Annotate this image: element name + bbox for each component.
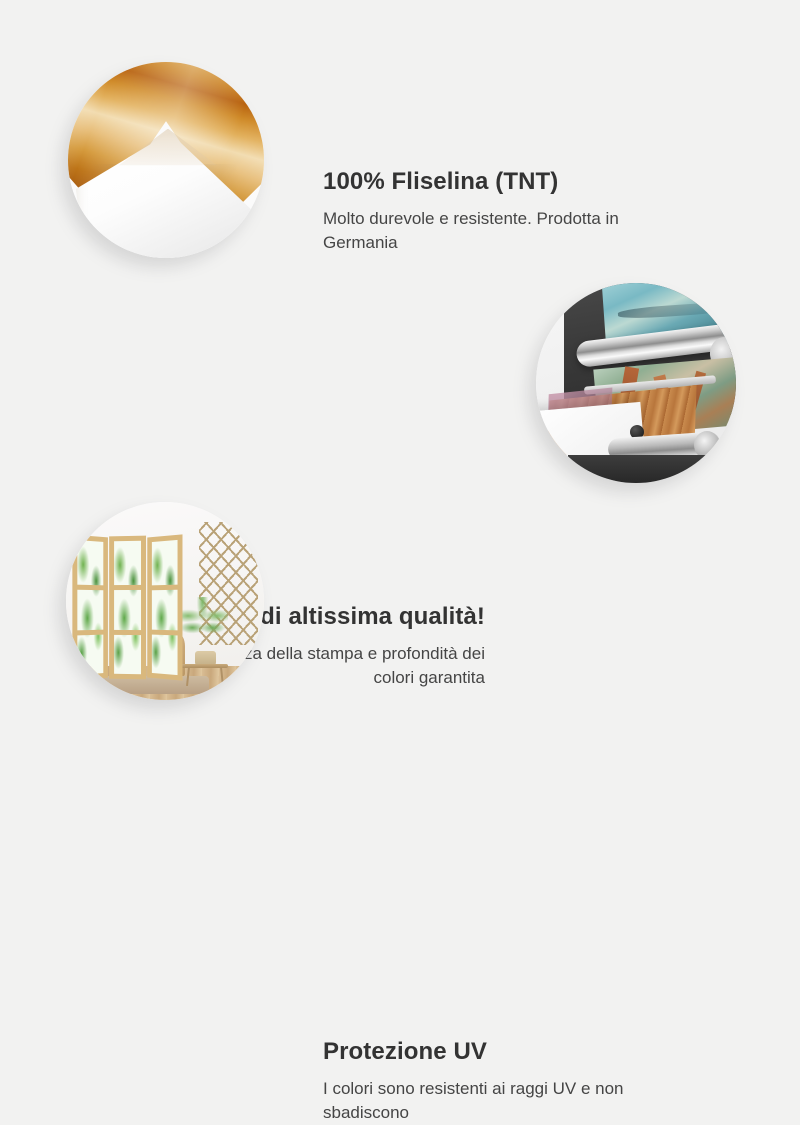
screen-panel-1 — [72, 534, 108, 679]
printer-base — [568, 455, 724, 483]
wallpaper-scene — [68, 62, 264, 258]
feature-block-protezione-uv: Protezione UV I colori sono resistenti a… — [0, 480, 800, 720]
feature-block-stampa-qualita: Stampa di altissima qualità! Ottima niti… — [0, 265, 800, 505]
feature-description: I colori sono resistenti ai raggi UV e n… — [323, 1077, 683, 1125]
room-divider-scene — [66, 502, 264, 700]
feature-title: 100% Fliselina (TNT) — [323, 168, 683, 197]
feature-title: Protezione UV — [323, 1038, 683, 1067]
tropical-room-divider-image — [66, 502, 264, 700]
printer-scene — [536, 283, 736, 483]
large-format-printer-image — [536, 283, 736, 483]
feature-text-fliselina: 100% Fliselina (TNT) Molto durevole e re… — [323, 168, 683, 255]
room-palm-plant — [177, 597, 228, 656]
promo-graphic: 100% Fliselina (TNT) Molto durevole e re… — [0, 0, 800, 800]
room-side-table-leg-left — [186, 667, 190, 686]
feature-text-protezione-uv: Protezione UV I colori sono resistenti a… — [323, 1038, 683, 1125]
feature-description: Molto durevole e resistente. Prodotta in… — [323, 207, 683, 255]
screen-panel-2 — [109, 535, 146, 678]
feature-block-fliselina: 100% Fliselina (TNT) Molto durevole e re… — [0, 40, 800, 290]
wallpaper-roll-curled-corner-image — [68, 62, 264, 258]
room-side-table — [181, 664, 229, 686]
room-side-table-leg-right — [220, 667, 224, 686]
screen-panel-3 — [147, 534, 182, 680]
tropical-folding-screen — [72, 536, 183, 679]
